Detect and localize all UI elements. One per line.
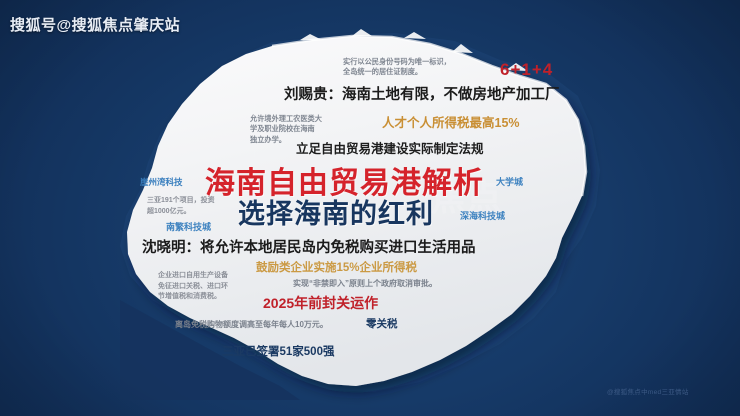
callout-shen-xiaoming-quote: 沈晓明：将允许本地居民岛内免税购买进口生活用品 — [142, 239, 476, 257]
callout-closure-2025: 2025年前封关运作 — [263, 295, 378, 313]
callout-six-one-four: 6+1+4 — [500, 59, 553, 80]
callout-overseas-university: 允许境外理工农医类大 学及职业院校在海南 独立办学。 — [250, 114, 342, 145]
callout-sanya-fortune500: 三亚已签署51家500强 — [222, 345, 334, 359]
poster-title-line-2: 选择海南的红利 — [238, 198, 434, 232]
city-tag-nanfan: 南繁科技城 — [166, 222, 211, 233]
callout-liu-xigui-quote: 刘赐贵：海南土地有限，不做房地产加工厂 — [284, 86, 560, 104]
callout-zero-tariff: 零关税 — [366, 318, 398, 331]
callout-talent-tax: 人才个人所得税最高15% — [382, 116, 520, 132]
watermark-top-left: 搜狐号@搜狐焦点肇庆站 — [10, 14, 180, 35]
city-note-sanya-projects: 三亚191个项目，投资 超1000亿元。 — [147, 196, 223, 217]
callout-import-equipment: 企业进口自用生产设备 免征进口关税、进口环 节增值税和消费税。 — [158, 271, 256, 303]
watermark-bottom-right: @搜狐焦点中med三亚情站 — [607, 386, 689, 396]
poster-title-line-1: 海南自由贸易港解析 — [205, 165, 484, 203]
callout-residence-permit: 实行以公民身份号码为唯一标识， 全岛统一的居住证制度。 — [343, 57, 503, 78]
callout-duty-free-quota: 离岛免税购物额度调高至每年每人10万元。 — [175, 320, 328, 330]
callout-non-prohibited-entry: 实现“非禁即入”原则上个政府取消审批。 — [293, 279, 437, 289]
poster-canvas: 焦点 实行以公民身份号码为唯一标识， 全岛统一的居住证制度。 6+1+4 刘赐贵… — [0, 0, 740, 416]
city-tag-university-town: 大学城 — [496, 177, 523, 188]
callout-layer: 实行以公民身份号码为唯一标识， 全岛统一的居住证制度。 6+1+4 刘赐贵：海南… — [0, 0, 740, 416]
city-tag-yazhouwan: 崖州湾科技 — [140, 177, 183, 188]
city-tag-deep-sea: 深海科技城 — [460, 211, 505, 222]
callout-enterprise-tax: 鼓励类企业实施15%企业所得税 — [256, 261, 417, 275]
callout-free-trade-law: 立足自由贸易港建设实际制定法规 — [296, 142, 484, 158]
